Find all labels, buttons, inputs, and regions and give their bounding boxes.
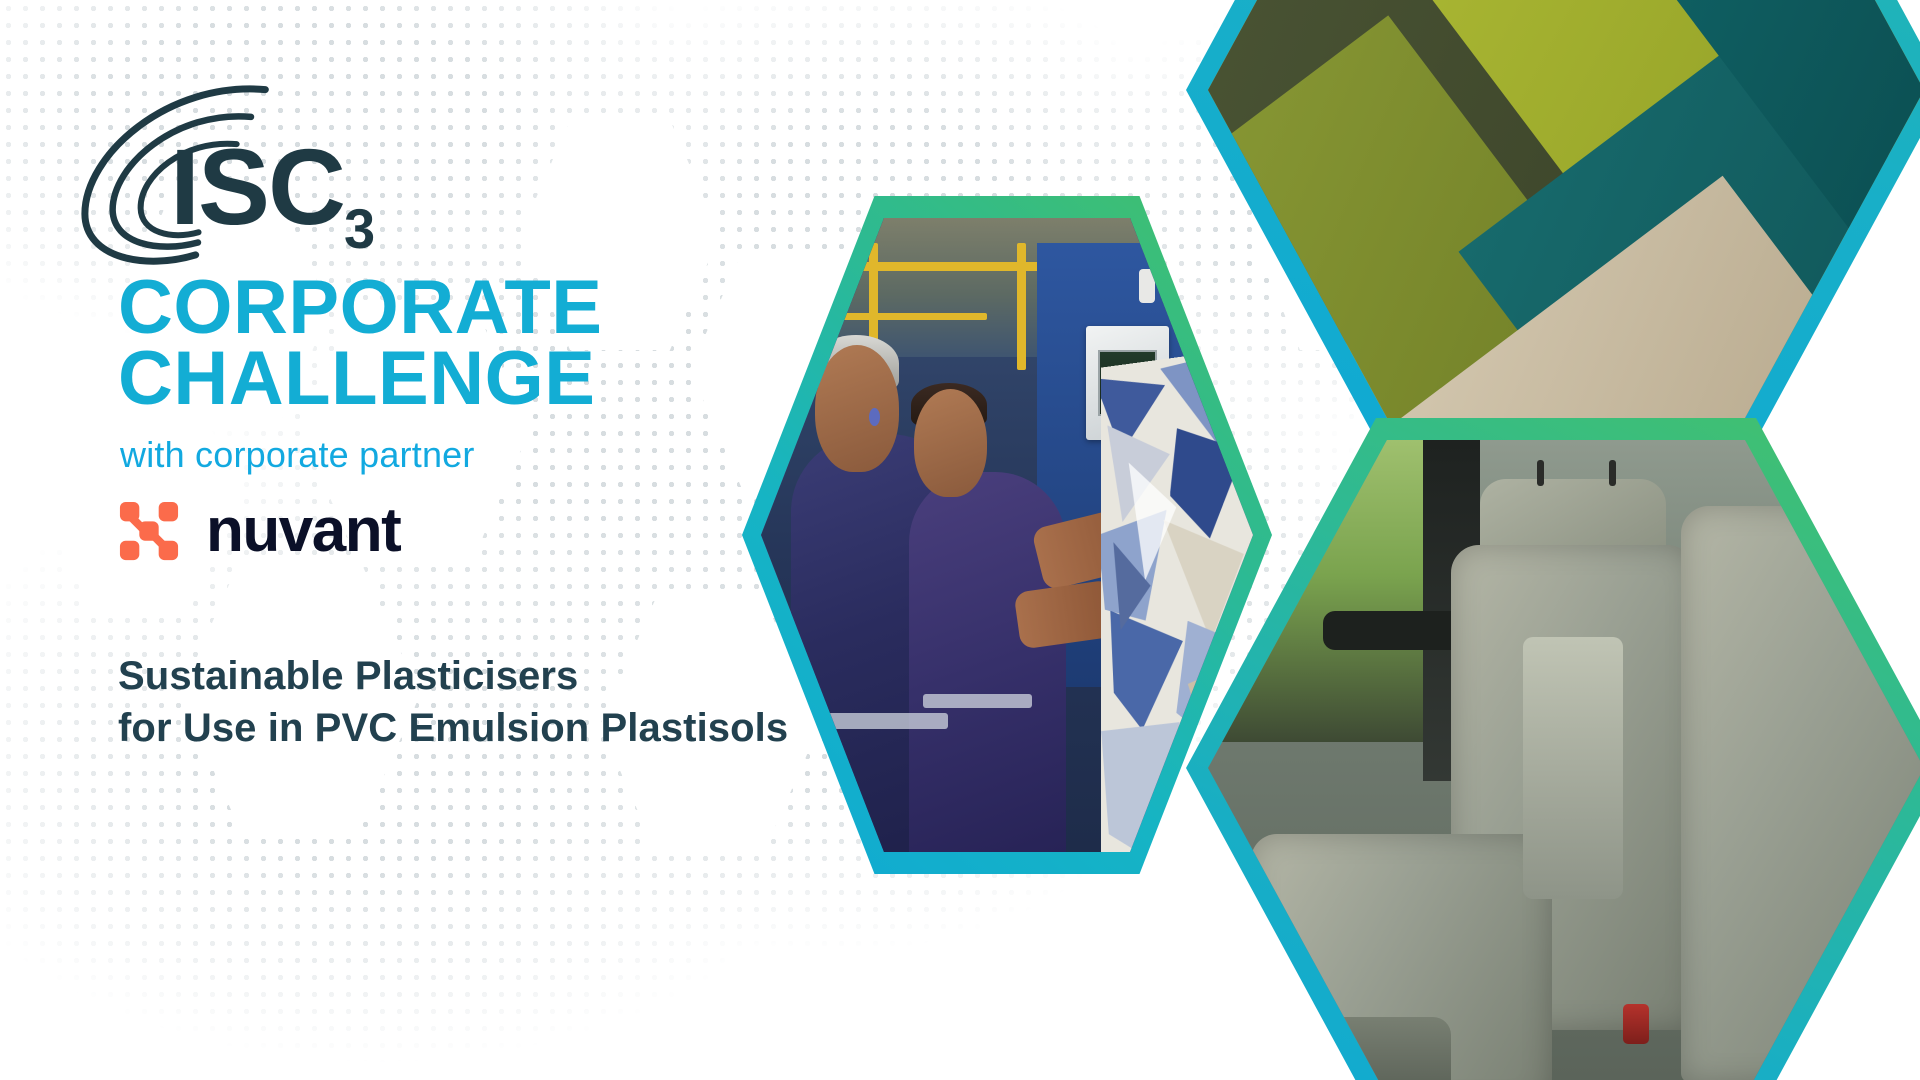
car-seat bbox=[1681, 506, 1920, 1080]
worker-head bbox=[815, 345, 899, 472]
hex-car-interior bbox=[1186, 418, 1920, 1080]
svg-text:3: 3 bbox=[344, 197, 375, 260]
subject-line-2: for Use in PVC Emulsion Plastisols bbox=[118, 702, 788, 754]
hex-car-interior-photo bbox=[1208, 440, 1920, 1080]
hex-textiles bbox=[1186, 0, 1920, 440]
partner-name: nuvant bbox=[206, 500, 400, 562]
isc3-logo: ISC 3 bbox=[62, 72, 422, 272]
subject-line-1: Sustainable Plasticisers bbox=[118, 650, 788, 702]
worker-head bbox=[914, 389, 988, 497]
svg-text:ISC: ISC bbox=[170, 126, 344, 247]
hex-textiles-photo bbox=[1208, 0, 1920, 418]
headline-line-1: CORPORATE bbox=[118, 272, 602, 343]
headline-line-2: CHALLENGE bbox=[118, 343, 602, 414]
banner-canvas: ISC 3 CORPORATE CHALLENGE with corporate… bbox=[0, 0, 1920, 1080]
partner-intro-label: with corporate partner bbox=[120, 434, 475, 476]
page-title: CORPORATE CHALLENGE bbox=[118, 272, 602, 415]
car-window bbox=[1208, 440, 1451, 742]
challenge-subject: Sustainable Plasticisers for Use in PVC … bbox=[118, 650, 788, 754]
nuvant-node-mark-icon bbox=[118, 500, 180, 562]
hex-factory-photo: 100.0cm bbox=[761, 218, 1253, 852]
seatbelt-buckle bbox=[1623, 1004, 1649, 1044]
partner-logo-lockup: nuvant bbox=[118, 500, 400, 562]
